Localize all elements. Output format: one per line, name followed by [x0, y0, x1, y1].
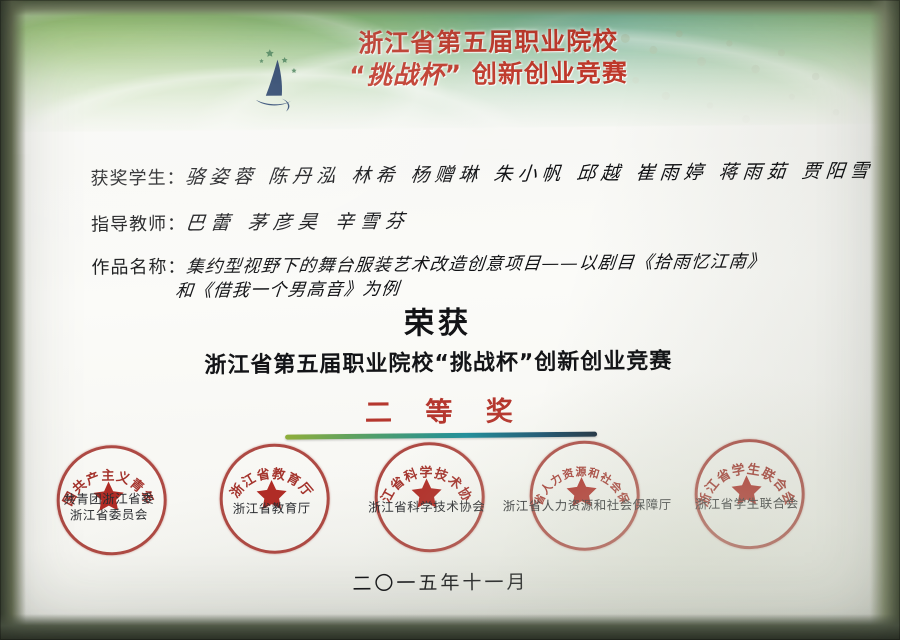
seal-caption: 浙江省人力资源和社会保障厅	[503, 494, 661, 515]
advisors-field: 指导教师： 巴蕾 茅彦昊 辛雪芬	[91, 206, 410, 236]
seal-caption: 浙江省教育厅	[193, 497, 351, 518]
honor-word: 荣获	[0, 294, 888, 347]
students-label: 获奖学生：	[90, 164, 185, 191]
photo-edge-top	[0, 0, 900, 16]
students-value: 骆姿蓉 陈丹泓 林希 杨赠琳 朱小帆 邱越 崔雨婷 蒋雨茹 贾阳雪 董亚茹	[184, 155, 900, 189]
photo-edge-bottom	[0, 614, 900, 640]
photo-edge-right	[870, 0, 900, 640]
gradient-divider	[285, 432, 597, 440]
certificate-sheet: 浙江省第五届职业院校 “挑战杯” 创新创业竞赛 获奖学生： 骆姿蓉 陈丹泓 林希…	[0, 0, 900, 640]
seal-communist-youth-league: 中国共产主义青年团 共青团浙江省委 浙江省委员会	[51, 445, 166, 552]
advisors-value: 巴蕾 茅彦昊 辛雪芬	[185, 206, 412, 235]
students-field: 获奖学生： 骆姿蓉 陈丹泓 林希 杨赠琳 朱小帆 邱越 崔雨婷 蒋雨茹 贾阳雪 …	[90, 155, 900, 190]
seal-caption-line2: 浙江省委员会	[30, 507, 188, 525]
award-level: 二 等 奖	[0, 386, 889, 434]
issuer-seals: 中国共产主义青年团 共青团浙江省委 浙江省委员会 浙江省教育厅	[0, 438, 890, 557]
work-title-field: 作品名称： 集约型视野下的舞台服装艺术改造创意项目——以剧目《拾雨忆江南》	[91, 247, 766, 279]
seal-human-resources-social-security: 浙江省人力资源和社会保障厅 浙江省人力资源和社会保障厅	[524, 440, 639, 547]
work-title-value-line1: 集约型视野下的舞台服装艺术改造创意项目——以剧目《拾雨忆江南》	[185, 248, 767, 279]
seal-caption-line1: 共青团浙江省委	[30, 491, 188, 509]
certificate-body: 获奖学生： 骆姿蓉 陈丹泓 林希 杨赠琳 朱小帆 邱越 崔雨婷 蒋雨茹 贾阳雪 …	[0, 0, 891, 634]
seal-education-department: 浙江省教育厅 浙江省教育厅	[214, 443, 329, 550]
issue-date: 二〇一五年十一月	[0, 564, 891, 600]
seal-students-federation: 浙江省学生联合会 浙江省学生联合会	[689, 439, 804, 546]
seal-science-technology-association: 浙江省科学技术协会 浙江省科学技术协会	[369, 442, 484, 549]
advisors-label: 指导教师：	[91, 210, 186, 237]
certificate-photo: 浙江省第五届职业院校 “挑战杯” 创新创业竞赛 获奖学生： 骆姿蓉 陈丹泓 林希…	[0, 0, 900, 640]
seal-caption: 浙江省学生联合会	[668, 492, 826, 513]
seal-caption: 共青团浙江省委 浙江省委员会	[30, 491, 188, 525]
work-title-label: 作品名称：	[91, 253, 186, 280]
photo-edge-left	[0, 0, 26, 640]
competition-full-name: 浙江省第五届职业院校“挑战杯”创新创业竞赛	[0, 341, 889, 382]
seal-caption: 浙江省科学技术协会	[348, 495, 506, 516]
